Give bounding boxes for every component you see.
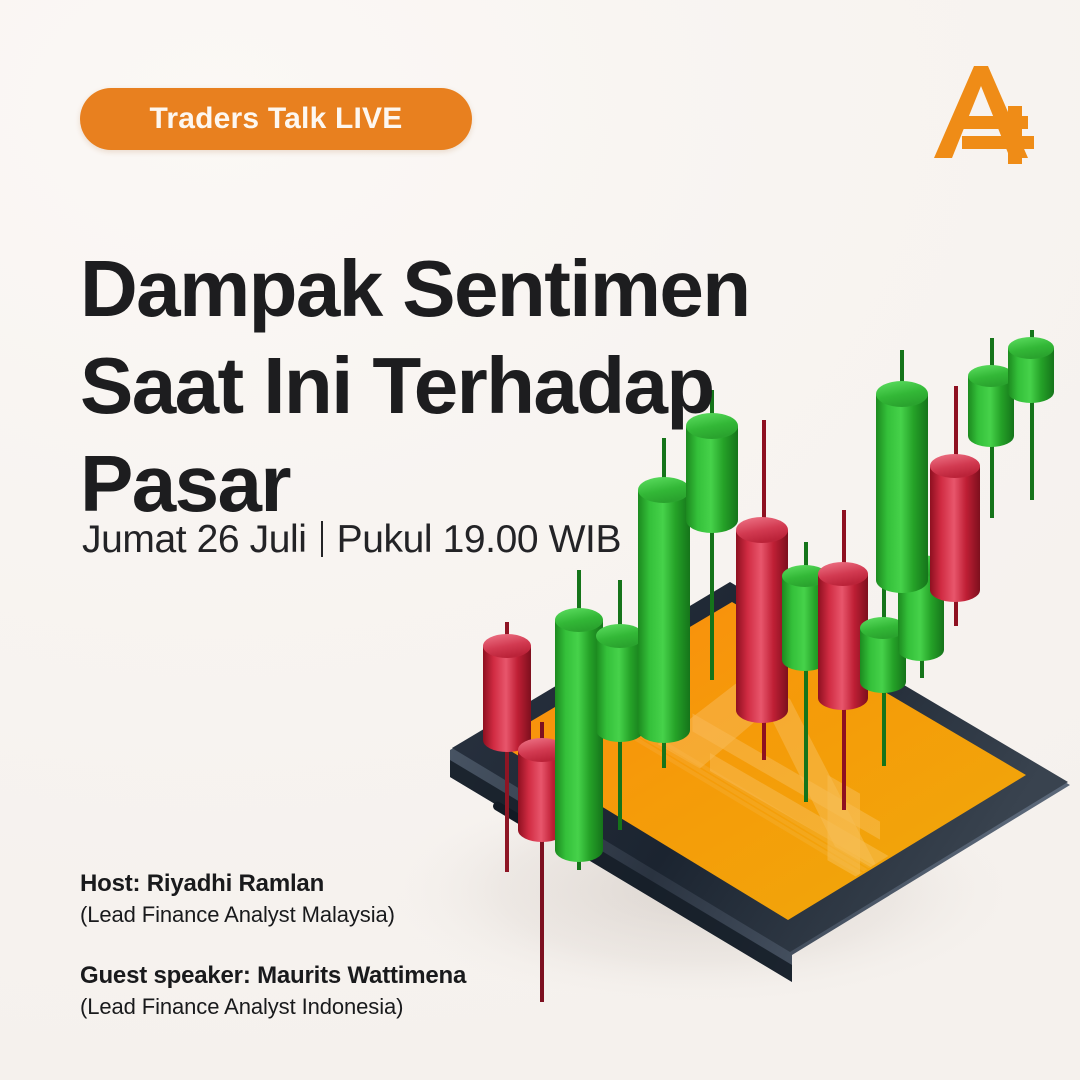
headline-line-2: Saat Ini Terhadap [80, 337, 820, 435]
schedule-time: Pukul 19.00 WIB [337, 518, 621, 562]
host-name: Host: Riyadhi Ramlan [80, 868, 640, 900]
page-title: Dampak Sentimen Saat Ini Terhadap Pasar [80, 240, 820, 533]
speaker-credits: Host: Riyadhi Ramlan (Lead Finance Analy… [80, 868, 640, 1022]
guest-role: (Lead Finance Analyst Indonesia) [80, 992, 640, 1022]
ajaib-a-logo-icon [930, 58, 1040, 166]
credit-host: Host: Riyadhi Ramlan (Lead Finance Analy… [80, 868, 640, 930]
traders-talk-live-badge[interactable]: Traders Talk LIVE [80, 88, 472, 150]
schedule-line: Jumat 26 Juli Pukul 19.00 WIB [82, 516, 621, 562]
schedule-date: Jumat 26 Juli [82, 518, 307, 562]
schedule-separator [321, 521, 323, 557]
promo-poster: Traders Talk LIVE Dampak Sentimen Saat I… [0, 0, 1080, 1080]
host-role: (Lead Finance Analyst Malaysia) [80, 900, 640, 930]
headline-line-1: Dampak Sentimen [80, 240, 820, 338]
guest-name: Guest speaker: Maurits Wattimena [80, 960, 640, 992]
credit-guest: Guest speaker: Maurits Wattimena (Lead F… [80, 960, 640, 1022]
badge-label: Traders Talk LIVE [150, 102, 403, 136]
